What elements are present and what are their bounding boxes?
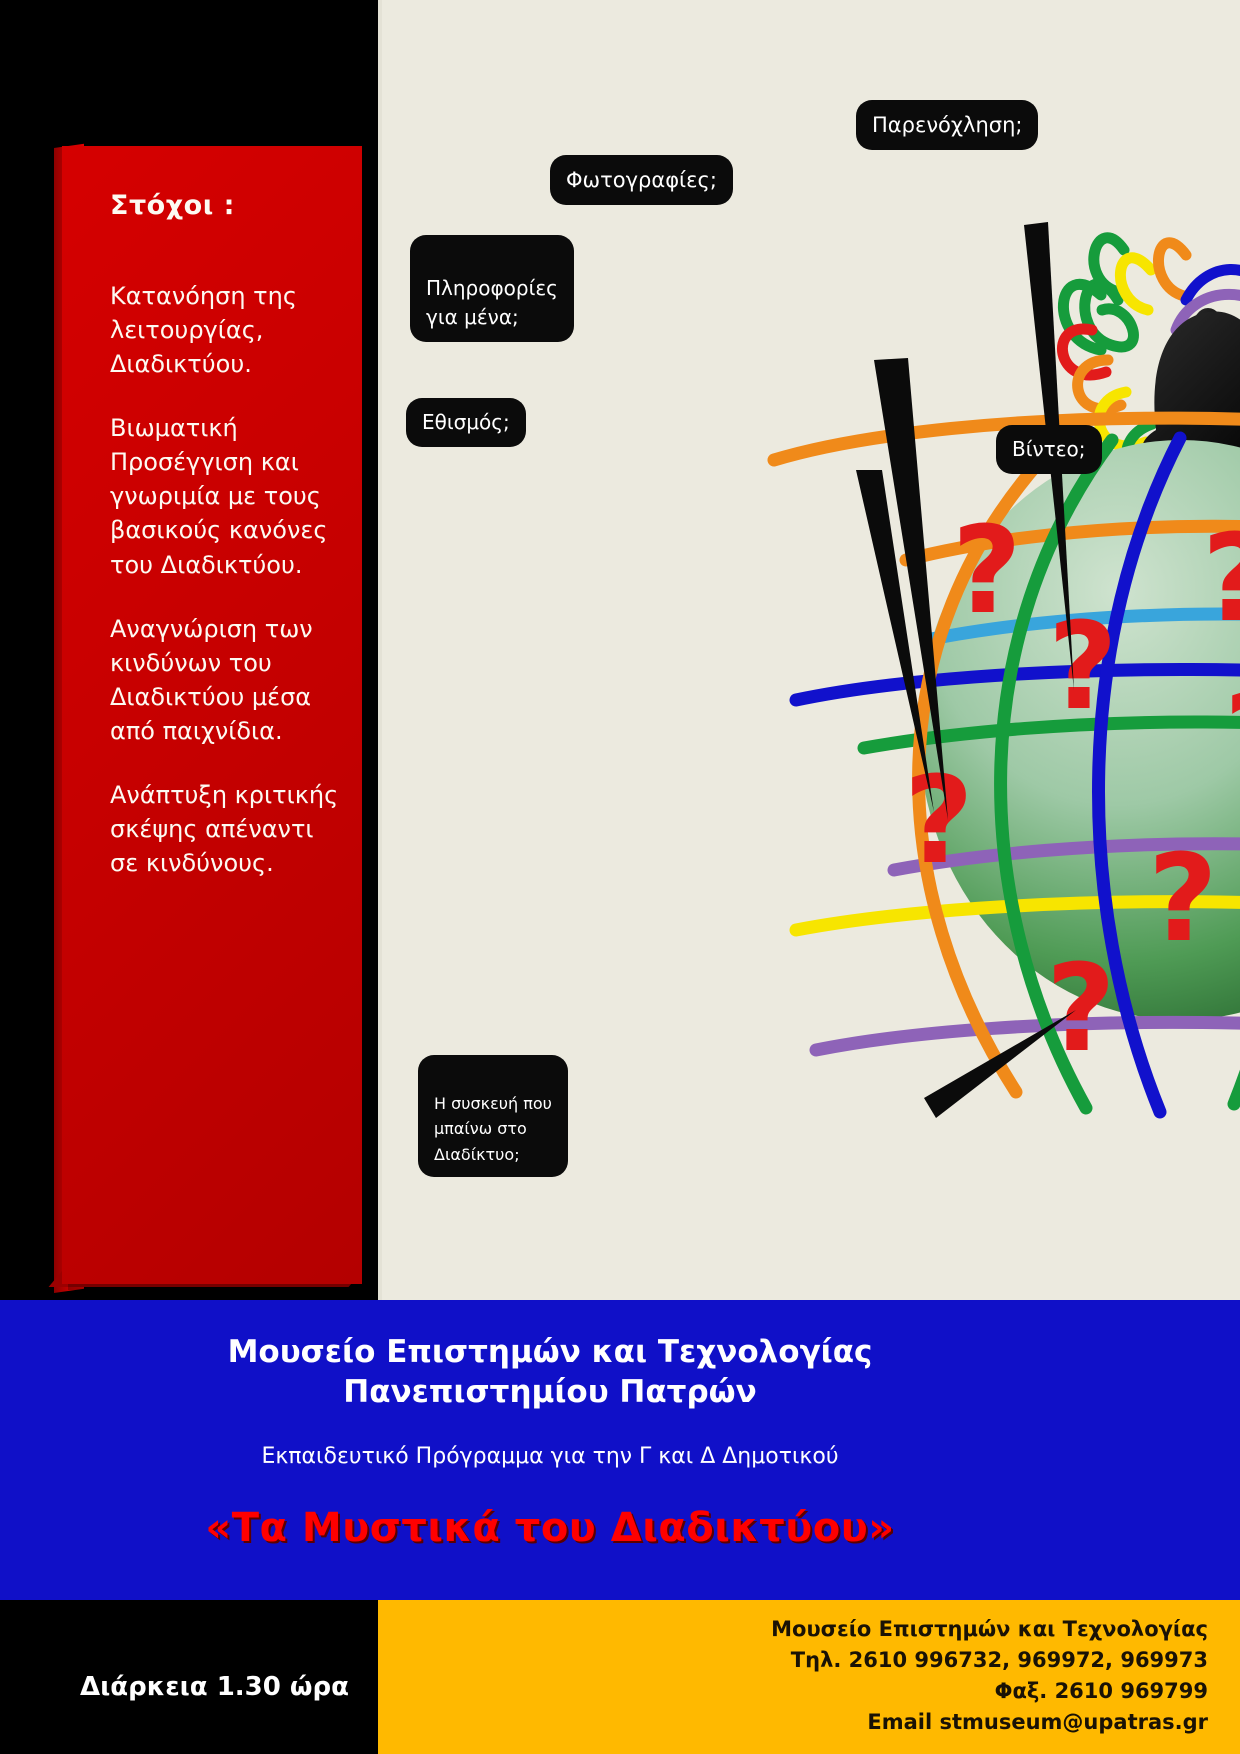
svg-text:?: ? (1048, 598, 1118, 737)
goal-item: Κατανόηση της λειτουργίας, Διαδικτύου. (110, 279, 342, 381)
bubble-addiction: Εθισμός; (406, 398, 526, 447)
poster-root: ? ? ? ? ? ? ? (0, 0, 1240, 1754)
globe-illustration: ? ? ? ? ? ? ? (756, 0, 1240, 1300)
illustration-panel: ? ? ? ? ? ? ? (378, 0, 1240, 1300)
bubble-addiction-label: Εθισμός; (422, 410, 510, 434)
organisation-title-line2: Πανεπιστημίου Πατρών (0, 1373, 1100, 1413)
bubble-video-label: Βίντεο; (1012, 437, 1086, 461)
contact-box: Μουσείο Επιστημών και Τεχνολογίας Τηλ. 2… (378, 1600, 1240, 1754)
contact-phone: Τηλ. 2610 996732, 969972, 969973 (771, 1645, 1208, 1676)
goal-item: Ανάπτυξη κριτικής σκέψης απέναντι σε κιν… (110, 778, 342, 880)
bubble-photos: Φωτογραφίες; (550, 155, 733, 205)
svg-text:?: ? (1202, 510, 1240, 649)
bubble-info-label: Πληροφορίες για μένα; (426, 276, 558, 329)
contact-fax: Φαξ. 2610 969799 (771, 1676, 1208, 1707)
program-subtitle: Εκπαιδευτικό Πρόγραμμα για την Γ και Δ Δ… (0, 1444, 1100, 1469)
svg-text:?: ? (1046, 940, 1116, 1079)
goals-box: Στόχοι : Κατανόηση της λειτουργίας, Διαδ… (40, 140, 370, 1290)
bubble-photos-label: Φωτογραφίες; (566, 168, 717, 192)
organisation-title: Μουσείο Επιστημών και Τεχνολογίας Πανεπι… (0, 1333, 1100, 1412)
bubble-device-label: Η συσκευή που μπαίνω στο Διαδίκτυο; (434, 1094, 552, 1164)
contact-email[interactable]: Email stmuseum@upatras.gr (771, 1707, 1208, 1738)
svg-text:?: ? (952, 502, 1022, 641)
bubble-info: Πληροφορίες για μένα; (410, 235, 574, 342)
bubble-harassment-label: Παρενόχληση; (872, 113, 1022, 137)
svg-text:?: ? (904, 752, 974, 891)
goals-title: Στόχοι : (110, 190, 342, 221)
globe-svg: ? ? ? ? ? ? ? (756, 0, 1240, 1300)
page-title: «Τα Μυστικά του Διαδικτύου» (0, 1505, 1100, 1551)
bubble-harassment: Παρενόχληση; (856, 100, 1038, 150)
goal-item: Βιωματική Προσέγγιση και γνωριμία με του… (110, 411, 342, 581)
svg-text:?: ? (1224, 670, 1240, 809)
svg-text:?: ? (1148, 830, 1218, 969)
contact-organisation: Μουσείο Επιστημών και Τεχνολογίας (771, 1614, 1208, 1645)
duration-label: Διάρκεια 1.30 ώρα (80, 1672, 349, 1702)
goals-box-content: Στόχοι : Κατανόηση της λειτουργίας, Διαδ… (110, 190, 342, 910)
organisation-title-line1: Μουσείο Επιστημών και Τεχνολογίας (0, 1333, 1100, 1373)
bubble-device: Η συσκευή που μπαίνω στο Διαδίκτυο; (418, 1055, 568, 1177)
contact-lines: Μουσείο Επιστημών και Τεχνολογίας Τηλ. 2… (771, 1614, 1208, 1738)
goal-item: Αναγνώριση των κινδύνων του Διαδικτύου μ… (110, 612, 342, 748)
bubble-video: Βίντεο; (996, 425, 1102, 474)
